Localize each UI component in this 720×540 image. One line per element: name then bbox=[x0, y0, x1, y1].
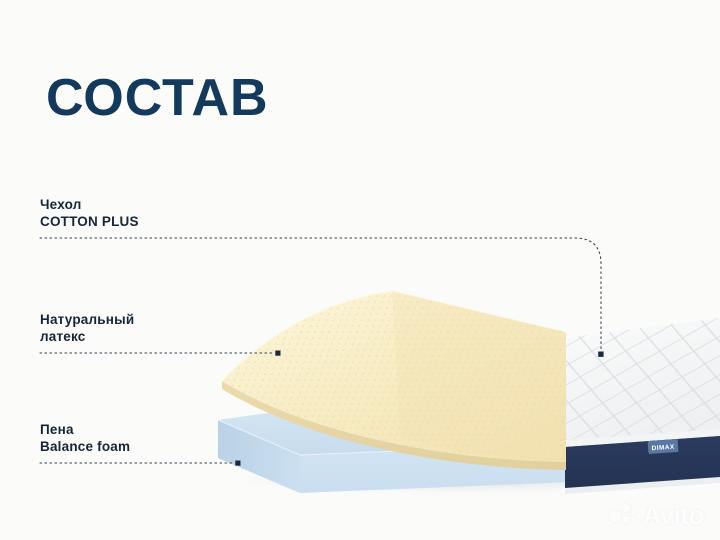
assembled-mattress: DIMAX bbox=[565, 318, 720, 494]
leader-marker-foam bbox=[235, 461, 240, 466]
leader-marker-latex bbox=[275, 351, 280, 356]
callout-cover: Чехол COTTON PLUS bbox=[40, 197, 139, 231]
callout-latex: Натуральный латекс bbox=[40, 312, 134, 346]
mattress-illustration: DIMAX bbox=[0, 0, 720, 540]
callout-latex-line1: Натуральный bbox=[40, 312, 134, 327]
leader-marker-cover bbox=[598, 352, 603, 357]
callout-latex-line2: латекс bbox=[40, 329, 134, 346]
avito-watermark: Avito bbox=[610, 502, 704, 528]
image-canvas: СОСТАВ bbox=[0, 0, 720, 540]
callout-foam-line2: Balance foam bbox=[40, 439, 130, 456]
callout-cover-line1: Чехол bbox=[40, 197, 81, 212]
callout-foam: Пена Balance foam bbox=[40, 422, 130, 456]
mattress-scene-svg: DIMAX bbox=[0, 0, 720, 540]
brand-tag: DIMAX bbox=[648, 439, 679, 454]
avito-wordmark: Avito bbox=[642, 502, 704, 528]
cover-quilt-pattern bbox=[565, 318, 720, 442]
avito-dots-icon bbox=[610, 504, 636, 526]
callout-cover-line2: COTTON PLUS bbox=[40, 214, 139, 231]
callout-foam-line1: Пена bbox=[40, 422, 74, 437]
latex-shading bbox=[392, 291, 566, 462]
